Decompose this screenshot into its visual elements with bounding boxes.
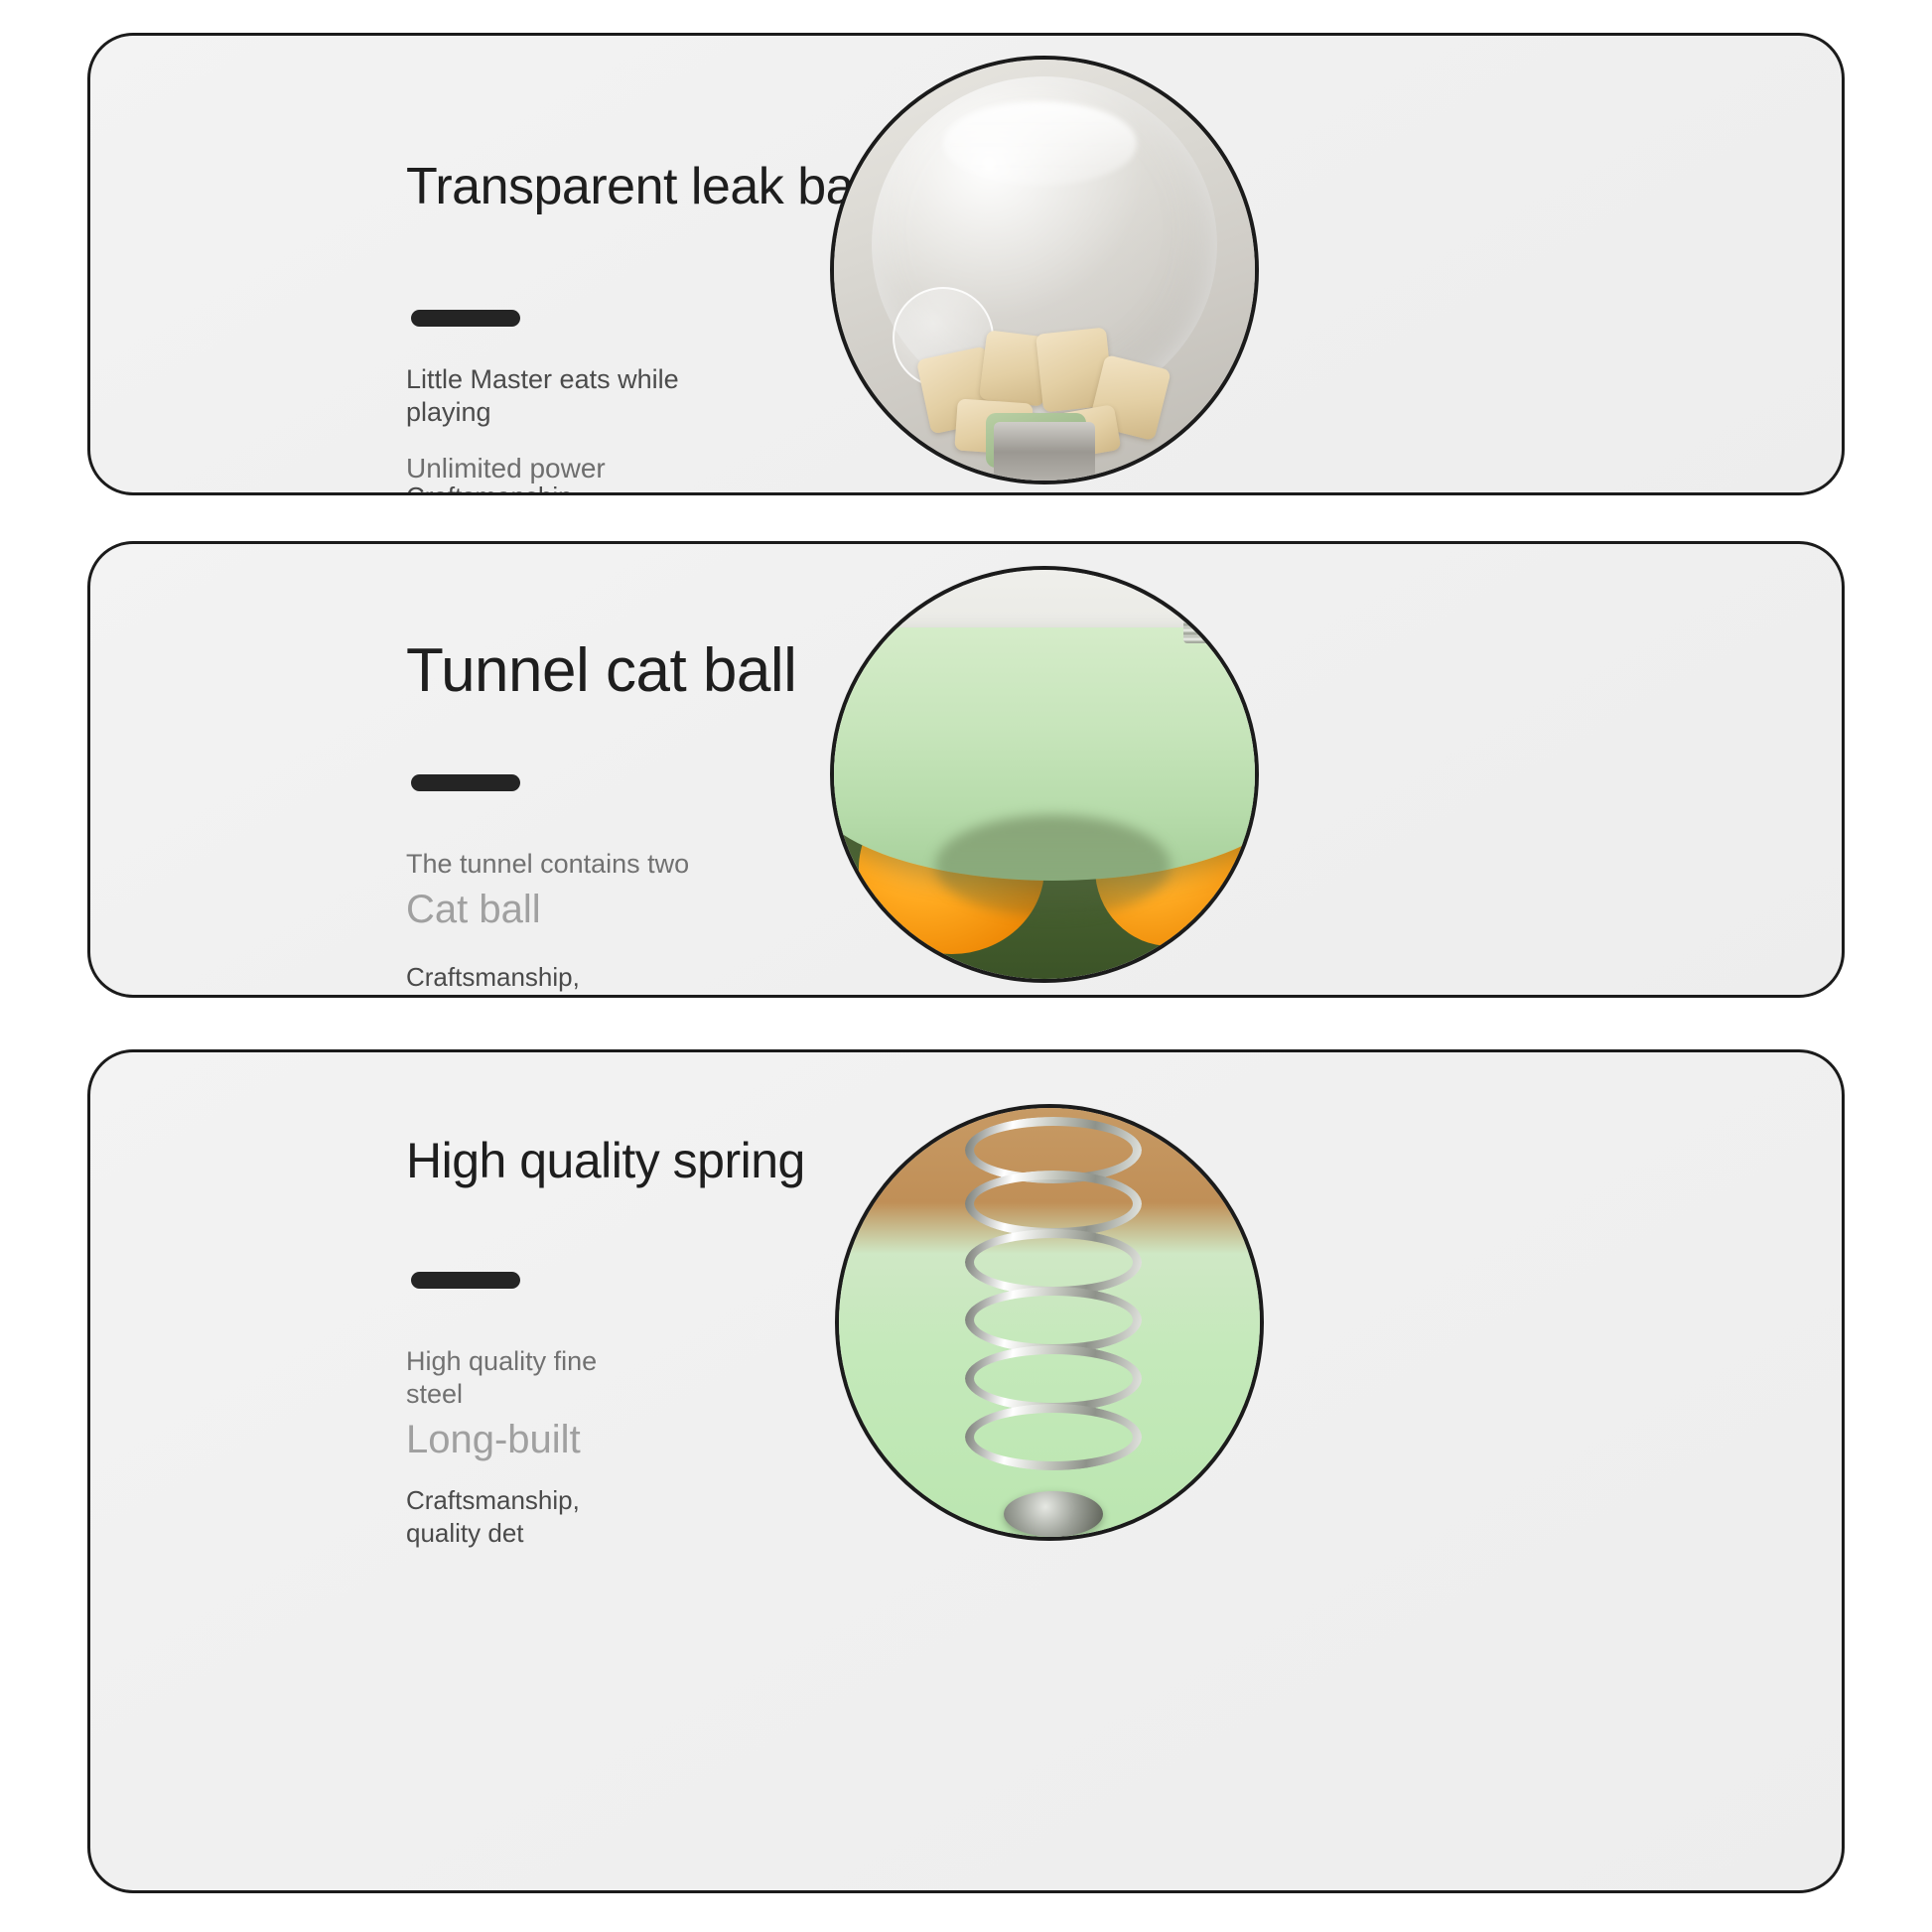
card-title: Tunnel cat ball: [406, 635, 796, 706]
card-title: Transparent leak ball: [406, 157, 876, 216]
card-footer-text: Craftsmanship, quality det: [406, 1484, 580, 1549]
high-quality-spring-photo: [835, 1104, 1264, 1541]
card-footer-text: Craftsmanship, quality det: [406, 481, 580, 495]
transparent-leak-ball-photo: [830, 56, 1259, 484]
divider-dash: [411, 310, 520, 327]
card-subtitle-line-2: playing: [406, 396, 679, 429]
card-subtitle-group: High quality fine steel Long-built: [406, 1345, 597, 1464]
card-accent-text: Long-built: [406, 1415, 597, 1464]
card-footer-text: Craftsmanship, quality det: [406, 961, 580, 998]
divider-dash: [411, 774, 520, 791]
feature-card-high-quality-spring[interactable]: High quality spring High quality fine st…: [87, 1049, 1845, 1893]
card-accent-text: Cat ball: [406, 885, 689, 934]
card-subtitle-line-2: steel: [406, 1378, 597, 1411]
feature-card-tunnel-cat-ball[interactable]: Tunnel cat ball The tunnel contains two …: [87, 541, 1845, 998]
feature-card-transparent-leak-ball[interactable]: Transparent leak ball Little Master eats…: [87, 33, 1845, 495]
divider-dash: [411, 1272, 520, 1289]
card-title: High quality spring: [406, 1132, 805, 1189]
card-subtitle-line-1: High quality fine: [406, 1345, 597, 1378]
card-subtitle-group: The tunnel contains two Cat ball: [406, 848, 689, 934]
tunnel-cat-ball-photo: [830, 566, 1259, 983]
card-subtitle-group: Little Master eats while playing Unlimit…: [406, 363, 679, 485]
card-subtitle-line-1: The tunnel contains two: [406, 848, 689, 881]
product-feature-infographic: Transparent leak ball Little Master eats…: [0, 0, 1932, 1932]
card-subtitle-line-1: Little Master eats while: [406, 363, 679, 396]
